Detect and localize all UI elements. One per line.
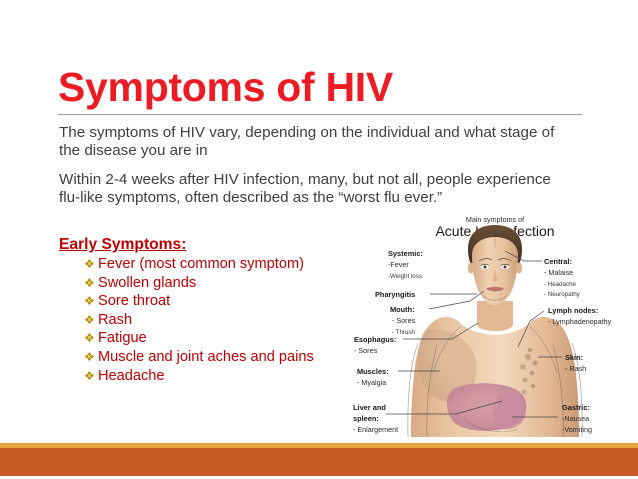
label-gastric: Gastric: -Nausea -Vomiting [562,403,592,434]
svg-text:- Sores: - Sores [354,346,378,355]
svg-text:Lymph nodes:: Lymph nodes: [548,306,598,315]
list-item: ❖Headache [84,367,364,386]
list-item: ❖Muscle and joint aches and pains [84,348,364,367]
list-item-label: Rash [98,311,132,330]
list-item: ❖Fatigue [84,329,364,348]
early-symptoms-heading: Early Symptoms: [59,236,186,254]
neck-shape [477,301,513,331]
list-item-label: Swollen glands [98,274,196,293]
svg-text:Central:: Central: [544,257,572,266]
diamond-bullet-icon: ❖ [84,311,98,330]
label-pharyngitis: Pharyngitis [375,290,415,299]
svg-text:- Headache: - Headache [544,281,577,288]
svg-text:spleen:: spleen: [353,414,379,423]
diamond-bullet-icon: ❖ [84,292,98,311]
list-item-label: Sore throat [98,292,170,311]
svg-text:- Myalgia: - Myalgia [357,378,386,387]
diamond-bullet-icon: ❖ [84,348,98,367]
footer-orange-bar [0,448,638,476]
svg-text:- Sores: - Sores [392,316,416,325]
svg-text:- Malaise: - Malaise [544,268,573,277]
list-item: ❖Fever (most common symptom) [84,255,364,274]
acute-hiv-infection-diagram: Main symptoms of Acute HIV infection [352,205,638,443]
svg-text:- Neuropathy: - Neuropathy [544,291,581,298]
list-item: ❖Sore throat [84,292,364,311]
page-title: Symptoms of HIV [58,64,393,110]
list-item: ❖Rash [84,311,364,330]
early-symptoms-list: ❖Fever (most common symptom) ❖Swollen gl… [84,255,364,385]
diamond-bullet-icon: ❖ [84,367,98,386]
list-item-label: Fever (most common symptom) [98,255,304,274]
svg-text:Muscles:: Muscles: [357,367,389,376]
diamond-bullet-icon: ❖ [84,255,98,274]
intro-paragraph-1: The symptoms of HIV vary, depending on t… [59,124,571,159]
diamond-bullet-icon: ❖ [84,329,98,348]
svg-text:Skin:: Skin: [565,353,583,362]
list-item: ❖Swollen glands [84,274,364,293]
list-item-label: Headache [98,367,165,386]
svg-text:-Fever: -Fever [388,260,409,269]
svg-text:Pharyngitis: Pharyngitis [375,290,415,299]
svg-text:-Weight loss: -Weight loss [388,273,422,280]
label-mouth: Mouth: - Sores - Thrush [390,305,416,336]
svg-text:Liver and: Liver and [353,403,386,412]
intro-paragraph-2: Within 2-4 weeks after HIV infection, ma… [59,171,571,206]
svg-text:-Nausea: -Nausea [562,414,589,423]
svg-text:-Vomiting: -Vomiting [562,425,592,434]
svg-text:Gastric:: Gastric: [562,403,590,412]
title-divider [58,114,582,115]
svg-text:Mouth:: Mouth: [390,305,415,314]
svg-text:Systemic:: Systemic: [388,249,423,258]
list-item-label: Fatigue [98,329,147,348]
list-item-label: Muscle and joint aches and pains [98,348,314,367]
svg-text:- Lymphadenopathy: - Lymphadenopathy [548,317,612,326]
slide-canvas: Symptoms of HIV The symptoms of HIV vary… [0,0,638,479]
svg-text:Esophagus:: Esophagus: [354,335,396,344]
svg-text:- Enlargement: - Enlargement [353,425,398,434]
svg-text:- Rash: - Rash [565,364,586,373]
diamond-bullet-icon: ❖ [84,274,98,293]
